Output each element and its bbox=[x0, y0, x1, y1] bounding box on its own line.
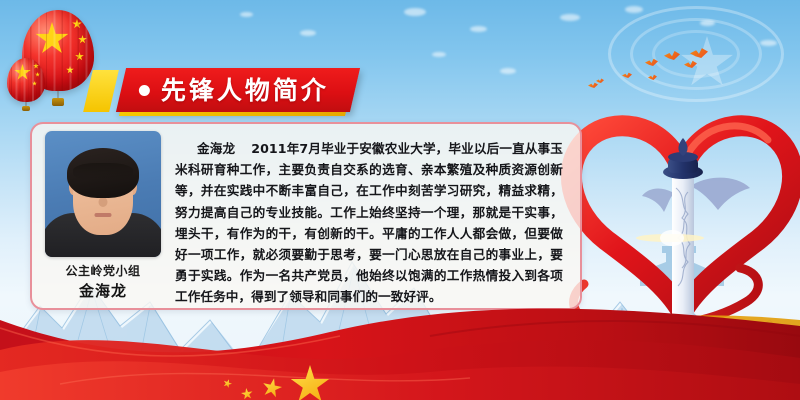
photo-column: 公主岭党小组 金海龙 bbox=[41, 131, 165, 301]
bullet-dot-icon bbox=[139, 85, 150, 96]
cloud-speck bbox=[240, 12, 253, 17]
cloud-speck bbox=[404, 8, 426, 16]
banner-red-panel: 先锋人物简介 bbox=[116, 68, 360, 112]
poster-canvas: 先锋人物简介 bbox=[0, 0, 800, 400]
cloud-speck bbox=[432, 52, 446, 57]
cloud-speck bbox=[300, 30, 316, 36]
cloud-speck bbox=[500, 68, 516, 74]
red-silk-waves-icon bbox=[0, 280, 800, 400]
hot-air-balloon-icon bbox=[7, 58, 45, 110]
cloud-speck bbox=[470, 26, 487, 32]
text-column: 金海龙2011年7月毕业于安徽农业大学，毕业以后一直从事玉米科研育种工作，主要负… bbox=[165, 131, 571, 301]
caption-group: 公主岭党小组 bbox=[65, 262, 140, 279]
cloud-speck bbox=[625, 6, 643, 13]
cloud-speck bbox=[560, 14, 580, 21]
profile-name: 金海龙 bbox=[197, 141, 235, 156]
page-title: 先锋人物简介 bbox=[161, 78, 329, 103]
portrait-photo bbox=[45, 131, 161, 257]
